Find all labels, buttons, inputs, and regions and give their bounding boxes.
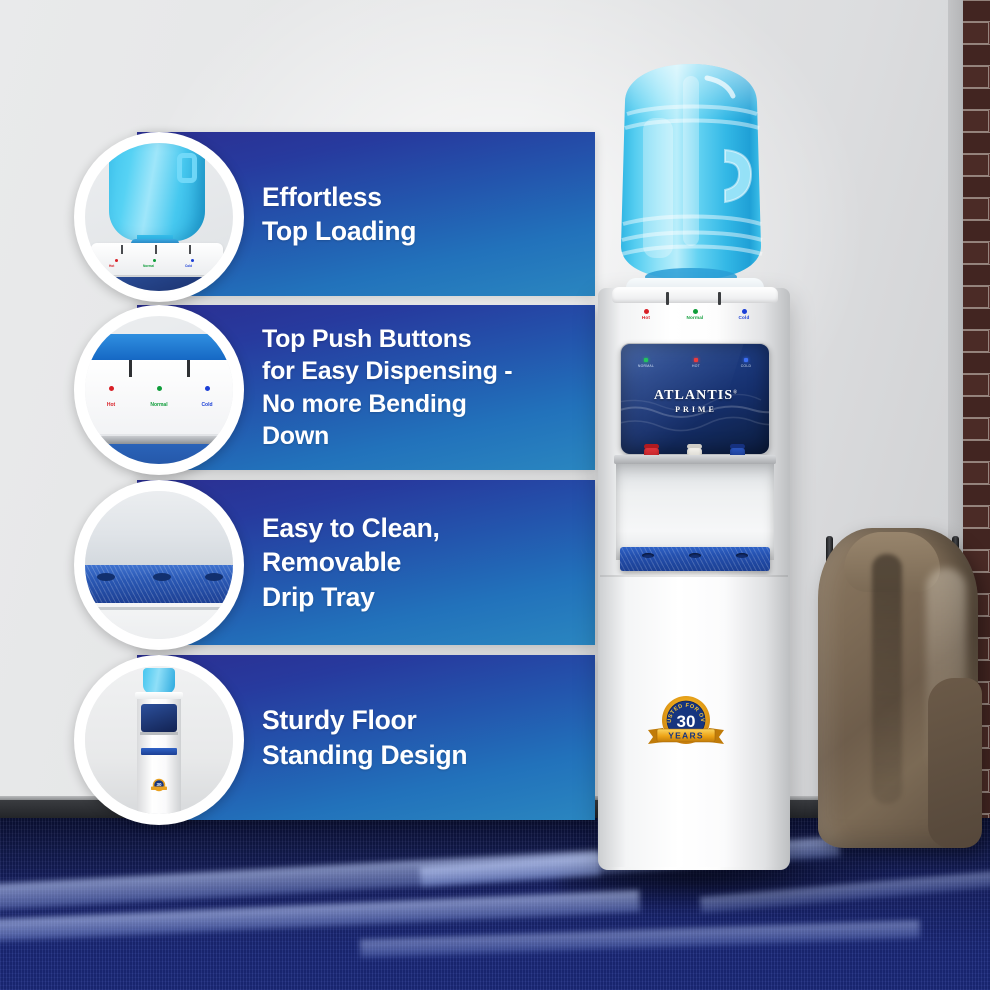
panel-cold-indicator: COLD xyxy=(731,358,761,368)
push-button-slot xyxy=(666,292,669,305)
product-feature-image: Effortless Top Loading Top Push Buttons … xyxy=(0,0,990,990)
badge-number: 30 xyxy=(677,712,696,731)
brand-logo: ATLANTIS® PRIME xyxy=(621,388,770,414)
drip-tray-hole xyxy=(642,553,654,558)
top-normal-button[interactable]: Normal xyxy=(675,309,715,320)
panel-normal-label: NORMAL xyxy=(631,364,661,368)
cabinet-seam xyxy=(600,575,788,577)
drip-tray-hole xyxy=(736,553,748,558)
top-control-labels: Hot Normal Cold xyxy=(612,309,778,325)
panel-hot-label: HOT xyxy=(681,364,711,368)
normal-led xyxy=(693,309,698,314)
panel-cold-label: COLD xyxy=(731,364,761,368)
brand-name: ATLANTIS® xyxy=(621,388,770,404)
panel-indicator-row: NORMAL HOT COLD xyxy=(621,358,770,368)
panel-hot-indicator: HOT xyxy=(681,358,711,368)
dispenser-top-plate xyxy=(612,287,778,303)
top-hot-button[interactable]: Hot xyxy=(626,309,666,320)
tap-shelf xyxy=(614,455,776,464)
dispensing-alcove xyxy=(616,464,774,560)
cold-label: Cold xyxy=(724,315,764,320)
brand-panel: NORMAL HOT COLD ATLANTIS® PRIME xyxy=(620,343,770,455)
drip-tray-hole xyxy=(689,553,701,558)
registered-mark: ® xyxy=(733,390,738,395)
water-bottle xyxy=(607,58,775,286)
hot-label: Hot xyxy=(626,315,666,320)
brand-model: PRIME xyxy=(621,405,770,414)
trusted-years-badge: TRUSTED FOR OVER 30 YEARS xyxy=(645,693,727,755)
hot-led xyxy=(644,309,649,314)
top-cold-button[interactable]: Cold xyxy=(724,309,764,320)
badge-bottom-text: YEARS xyxy=(668,731,704,741)
push-button-slot xyxy=(718,292,721,305)
drip-tray[interactable] xyxy=(620,547,770,571)
normal-label: Normal xyxy=(675,315,715,320)
cold-led xyxy=(742,309,747,314)
drip-tray-grid xyxy=(620,547,770,571)
water-dispenser: Hot Normal Cold NORMAL xyxy=(0,0,990,990)
panel-normal-indicator: NORMAL xyxy=(631,358,661,368)
